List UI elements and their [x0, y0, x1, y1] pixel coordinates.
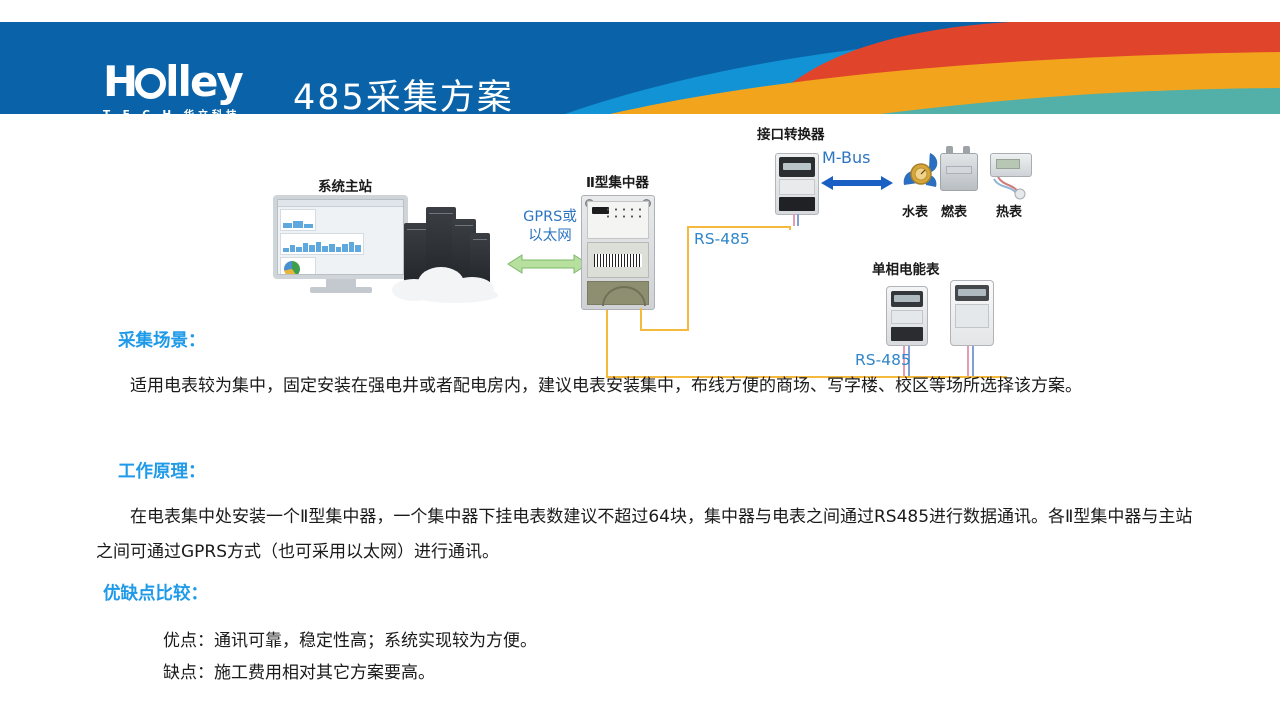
- header-banner: Hlley T E C H 华立科技 485采集方案: [0, 22, 1280, 114]
- section-heading-scene: 采集场景：: [118, 327, 206, 352]
- section-paragraph-scene: 适用电表较为集中，固定安装在强电井或者配电房内，建议电表安装集中，布线方便的商场…: [96, 369, 1196, 404]
- master-station-monitor-icon: [273, 195, 408, 293]
- label-heat-meter: 热表: [996, 201, 1022, 220]
- section-paragraph-principle: 在电表集中处安装一个Ⅱ型集中器，一个集中器下挂电表数建议不超过64块，集中器与电…: [96, 500, 1196, 570]
- heat-meter-icon: [990, 153, 1036, 201]
- mbus-double-arrow-icon: [820, 175, 894, 191]
- proscons-bullet-disadvantage: 缺点：施工费用相对其它方案要高。: [163, 657, 435, 689]
- wire-h-to-converter: [687, 226, 791, 228]
- cloud-icon: [392, 263, 510, 303]
- gprs-double-arrow-icon: [506, 253, 590, 275]
- label-water-meter: 水表: [902, 201, 928, 220]
- label-converter: 接口转换器: [757, 123, 825, 143]
- gprs-line-2: 以太网: [508, 227, 592, 246]
- section-heading-principle: 工作原理：: [118, 458, 206, 483]
- gas-meter-icon: [940, 153, 978, 191]
- water-meter-icon: [900, 151, 944, 195]
- wire-converter-pink: [793, 214, 795, 226]
- wire-h-concentrator-upper: [640, 329, 689, 331]
- architecture-diagram: 系统主站: [0, 113, 1280, 363]
- label-single-phase-meter: 单相电能表: [872, 258, 940, 278]
- logo-wordmark: Hlley: [103, 61, 263, 105]
- label-master-station: 系统主站: [318, 175, 372, 195]
- logo-ring-icon: [135, 68, 166, 99]
- link-mbus-label: M-Bus: [822, 148, 870, 167]
- label-gas-meter: 燃表: [941, 201, 967, 220]
- company-logo: Hlley T E C H 华立科技: [103, 61, 263, 114]
- page-title: 485采集方案: [293, 69, 514, 114]
- wire-converter-blue: [797, 214, 799, 226]
- link-gprs-label: GPRS或 以太网: [508, 208, 592, 246]
- single-phase-meter-icon-2: [950, 280, 994, 346]
- link-rs485-upper-label: RS-485: [694, 230, 750, 248]
- link-rs485-lower-label: RS-485: [855, 351, 911, 369]
- single-phase-meter-icon-1: [886, 286, 928, 346]
- gprs-line-1: GPRS或: [508, 208, 592, 227]
- section-heading-proscons: 优缺点比较：: [103, 580, 208, 605]
- wire-v-concentrator-lower: [606, 310, 608, 378]
- interface-converter-icon: [775, 153, 819, 215]
- proscons-bullet-advantage: 优点：通讯可靠，稳定性高；系统实现较为方便。: [163, 625, 537, 657]
- wire-v-concentrator-upper: [640, 308, 642, 331]
- label-concentrator: Ⅱ型集中器: [586, 171, 649, 191]
- concentrator-device-icon: [581, 195, 655, 310]
- wire-v-rs485-upper: [687, 226, 689, 331]
